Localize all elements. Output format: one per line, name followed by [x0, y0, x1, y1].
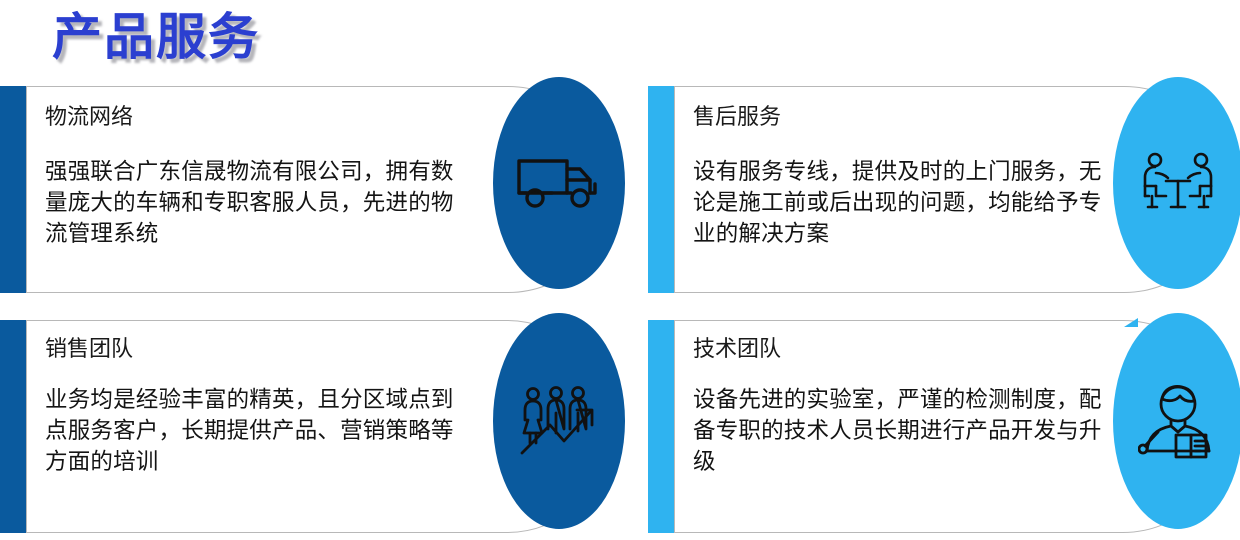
team-growth-chart-icon — [518, 385, 600, 457]
card-icon-badge — [1113, 313, 1240, 529]
card-heading: 销售团队 — [45, 337, 475, 363]
card-body: 业务均是经验丰富的精英，且分区域点到点服务客户，长期提供产品、营销策略等方面的培… — [45, 385, 475, 477]
card-text-block: 销售团队 业务均是经验丰富的精英，且分区域点到点服务客户，长期提供产品、营销策略… — [45, 337, 475, 477]
truck-icon — [516, 154, 602, 212]
card-body: 设备先进的实验室，严谨的检测制度，配备专职的技术人员长期进行产品开发与升级 — [693, 385, 1123, 477]
card-accent-bar-sales-team — [0, 320, 27, 533]
card-logistics-network[interactable]: 物流网络 强强联合广东信晟物流有限公司，拥有数量庞大的车辆和专职客服人员，先进的… — [26, 86, 612, 293]
page-title: 产品服务 — [52, 12, 260, 62]
card-icon-badge — [1113, 77, 1240, 289]
card-icon-badge — [493, 77, 625, 289]
card-accent-bar-after-sales — [648, 86, 675, 293]
meeting-table-icon — [1140, 151, 1216, 215]
card-text-block: 技术团队 设备先进的实验室，严谨的检测制度，配备专职的技术人员长期进行产品开发与… — [693, 337, 1123, 477]
card-icon-badge — [493, 313, 625, 529]
card-accent-bar-logistics — [0, 86, 27, 293]
card-heading: 技术团队 — [693, 337, 1123, 363]
card-body: 强强联合广东信晟物流有限公司，拥有数量庞大的车辆和专职客服人员，先进的物流管理系… — [45, 157, 475, 249]
card-sales-team[interactable]: 销售团队 业务均是经验丰富的精英，且分区域点到点服务客户，长期提供产品、营销策略… — [26, 320, 612, 533]
card-text-block: 物流网络 强强联合广东信晟物流有限公司，拥有数量庞大的车辆和专职客服人员，先进的… — [45, 105, 475, 249]
card-body: 设有服务专线，提供及时的上门服务，无论是施工前或后出现的问题，均能给予专业的解决… — [693, 157, 1123, 249]
instructor-book-icon — [1138, 383, 1218, 459]
card-heading: 物流网络 — [45, 105, 475, 131]
decorative-triangle-artifact — [1124, 318, 1138, 327]
card-after-sales-service[interactable]: 售后服务 设有服务专线，提供及时的上门服务，无论是施工前或后出现的问题，均能给予… — [674, 86, 1228, 293]
card-text-block: 售后服务 设有服务专线，提供及时的上门服务，无论是施工前或后出现的问题，均能给予… — [693, 105, 1123, 249]
card-accent-bar-technical-team — [648, 320, 675, 533]
card-technical-team[interactable]: 技术团队 设备先进的实验室，严谨的检测制度，配备专职的技术人员长期进行产品开发与… — [674, 320, 1228, 533]
card-heading: 售后服务 — [693, 105, 1123, 131]
